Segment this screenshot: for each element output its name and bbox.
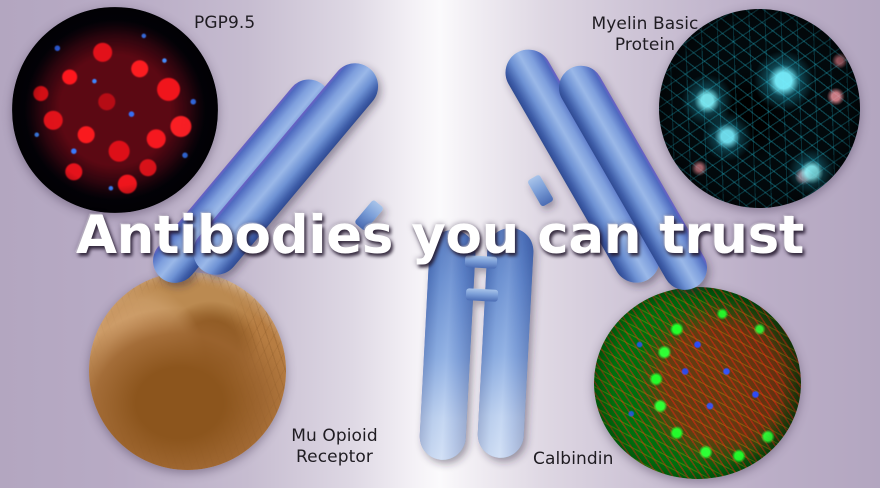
page-title: Antibodies you can trust [0,205,880,266]
label-calbindin: Calbindin [533,449,614,470]
banner-canvas: PGP9.5 Myelin Basic Protein Mu Opioid Re… [0,0,880,488]
label-mu-opioid-receptor: Mu Opioid Receptor [272,426,397,468]
antibody-hinge-link-lower [466,288,499,302]
label-myelin-basic-protein: Myelin Basic Protein [580,14,710,56]
antibody-disulfide-link-right [527,174,554,207]
label-pgp95: PGP9.5 [194,13,255,34]
